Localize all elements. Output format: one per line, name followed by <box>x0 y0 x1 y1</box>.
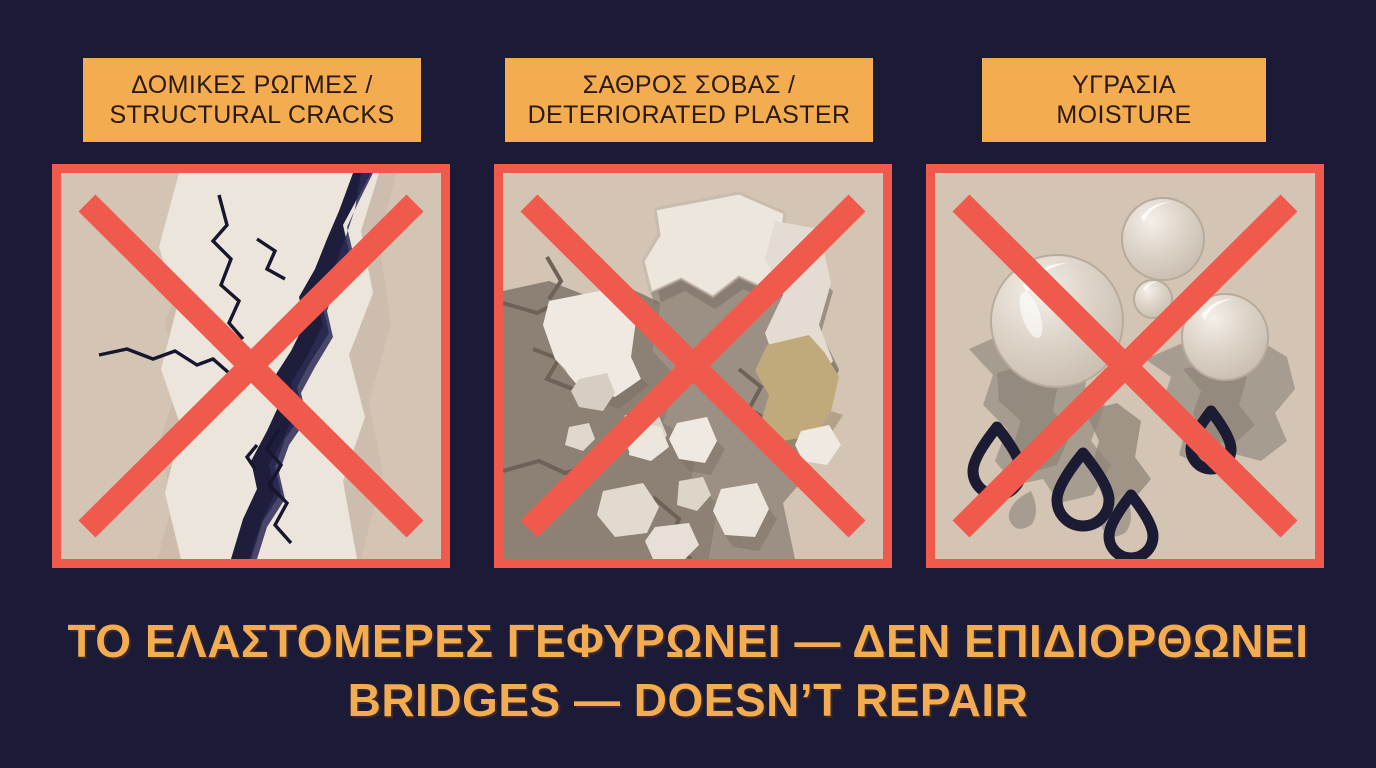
badge-line-greek: ΔΟΜΙΚΕΣ ΡΩΓΜΕΣ / <box>131 70 373 100</box>
panel-image-moisture <box>935 173 1315 559</box>
cracked-wall-illustration <box>61 173 441 559</box>
badge-line-english: STRUCTURAL CRACKS <box>109 100 394 130</box>
badge-line-greek: ΣΑΘΡΟΣ ΣΟΒΑΣ / <box>583 70 796 100</box>
badge-moisture: ΥΓΡΑΣΙΑ MOISTURE <box>982 58 1266 142</box>
caption-block: ΤΟ ΕΛΑΣΤΟΜΕΡΕΣ ΓΕΦΥΡΩΝΕΙ — ΔΕΝ ΕΠΙΔΙΟΡΘΩ… <box>0 612 1376 730</box>
badge-structural-cracks: ΔΟΜΙΚΕΣ ΡΩΓΜΕΣ / STRUCTURAL CRACKS <box>83 58 421 142</box>
panel-image-cracked-wall <box>61 173 441 559</box>
caption-line-english: BRIDGES — DOESN’T REPAIR <box>0 671 1376 730</box>
panel-deteriorated-plaster <box>494 164 892 568</box>
panel-moisture <box>926 164 1324 568</box>
badge-line-english: MOISTURE <box>1056 100 1191 130</box>
moisture-illustration <box>935 173 1315 559</box>
badge-line-english: DETERIORATED PLASTER <box>528 100 851 130</box>
spalling-plaster-illustration <box>503 173 883 559</box>
badge-deteriorated-plaster: ΣΑΘΡΟΣ ΣΟΒΑΣ / DETERIORATED PLASTER <box>505 58 873 142</box>
panel-image-spalling-plaster <box>503 173 883 559</box>
panel-structural-cracks <box>52 164 450 568</box>
badge-line-greek: ΥΓΡΑΣΙΑ <box>1072 70 1176 100</box>
poster-root: ΔΟΜΙΚΕΣ ΡΩΓΜΕΣ / STRUCTURAL CRACKS ΣΑΘΡΟ… <box>0 0 1376 768</box>
caption-line-greek: ΤΟ ΕΛΑΣΤΟΜΕΡΕΣ ΓΕΦΥΡΩΝΕΙ — ΔΕΝ ΕΠΙΔΙΟΡΘΩ… <box>0 612 1376 671</box>
